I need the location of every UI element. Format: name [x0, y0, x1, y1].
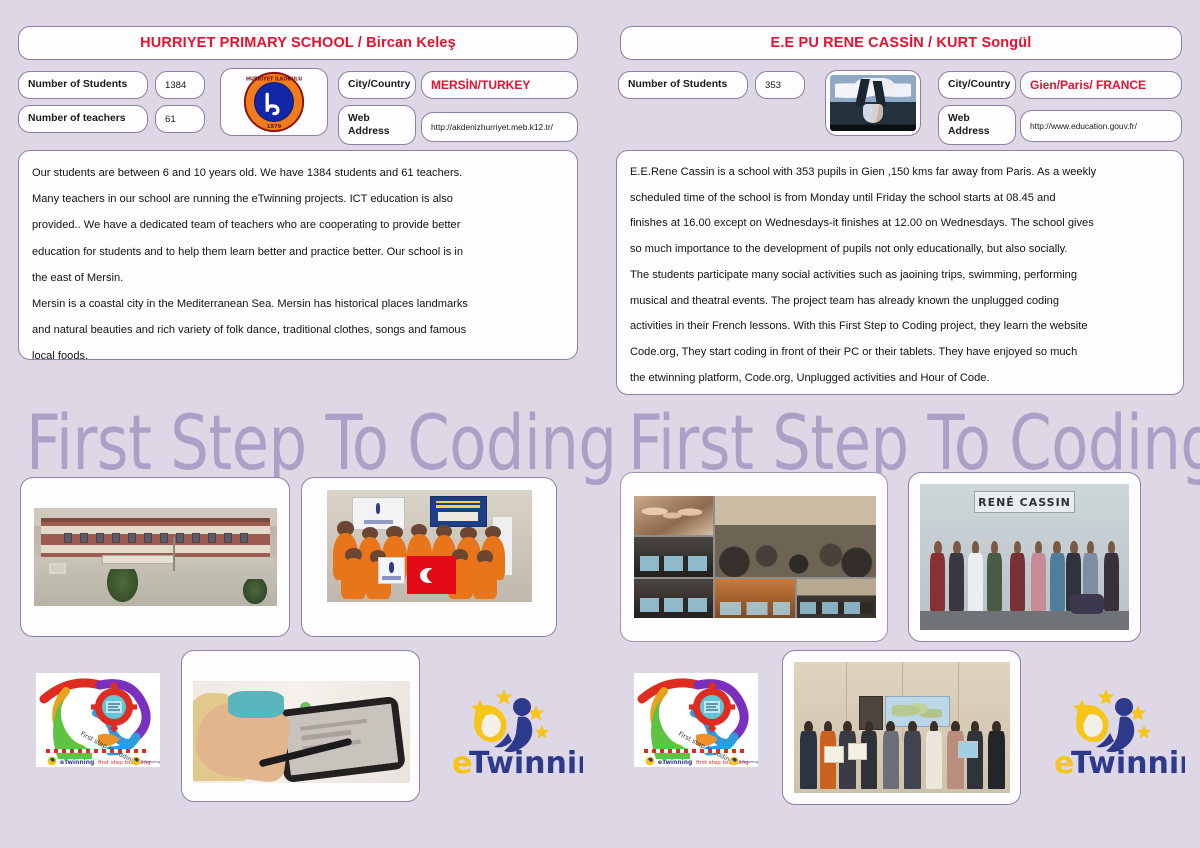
right-school-title: E.E PU RENE CASSİN / KURT Songül	[620, 26, 1182, 60]
right-etwinning-logo: e Twinning	[1040, 681, 1185, 781]
svg-text:eTwinning: eTwinning	[740, 760, 758, 764]
right-project-logo: First step to coding eTwinning first ste…	[634, 673, 758, 767]
right-desc-line: finishes at 16.00 except on Wednesdays-i…	[630, 211, 1170, 237]
hurriyet-ilkokulu-crest-icon: HURRIYET İLKOKULU 1979	[221, 69, 327, 135]
students-with-certificates-photo-frame	[782, 650, 1021, 805]
left-desc-line: and natural beauties and rich variety of…	[32, 317, 564, 343]
right-city-value: Gien/Paris/ FRANCE	[1020, 71, 1182, 99]
right-desc-line: the etwinning platform, Code.org, Unplug…	[630, 366, 1170, 392]
students-at-rene-cassin-sign-photo-frame: RENÉ CASSIN	[908, 472, 1141, 642]
school-building-photo-frame	[20, 477, 290, 637]
etwinning-logo-icon: e Twinning	[438, 681, 583, 781]
left-desc-line: local foods.	[32, 343, 564, 369]
poster-root: HURRIYET PRIMARY SCHOOL / Bircan Keleş N…	[0, 0, 1200, 848]
school-building-photo	[34, 508, 277, 606]
right-desc-line: so much importance to the development of…	[630, 237, 1170, 263]
left-desc-line: education for students and to help them …	[32, 239, 564, 265]
right-web-value[interactable]: http://www.education.gouv.fr/	[1020, 110, 1182, 142]
left-teachers-label: Number of teachers	[18, 105, 148, 133]
child-using-tablet-photo-frame	[181, 650, 420, 802]
right-desc-line: scheduled time of the school is from Mon…	[630, 186, 1170, 212]
left-teachers-value: 61	[155, 105, 205, 133]
left-desc-line: provided.. We have a dedicated team of t…	[32, 212, 564, 238]
students-with-turkish-flag-photo	[327, 490, 532, 602]
right-web-label: Web Address	[938, 105, 1016, 145]
coding-activities-collage-photo-frame	[620, 472, 888, 642]
etwinning-word: Twinning	[469, 746, 583, 781]
left-web-value[interactable]: http://akdenizhurriyet.meb.k12.tr/	[421, 112, 578, 142]
child-using-tablet-photo	[193, 681, 410, 783]
first-step-to-coding-logo-icon: First step to coding eTwinning first ste…	[634, 673, 758, 767]
left-desc-line: Mersin is a coastal city in the Mediterr…	[32, 291, 564, 317]
left-web-label: Web Address	[338, 105, 416, 145]
first-step-to-coding-logo-icon: First step to coding eTwinning first ste…	[36, 673, 160, 767]
students-with-certificates-photo	[794, 662, 1010, 793]
svg-text:HURRIYET İLKOKULU: HURRIYET İLKOKULU	[246, 76, 302, 83]
right-desc-line: Code.org, They start coding in front of …	[630, 340, 1170, 366]
coding-activities-collage-photo	[634, 496, 876, 618]
students-with-turkish-flag-photo-frame	[301, 477, 557, 637]
left-wordart-title: First Step To Coding	[26, 398, 616, 487]
left-desc-line: Our students are between 6 and 10 years …	[32, 160, 564, 186]
left-etwinning-logo: e Twinning	[438, 681, 583, 781]
school-flags-photo	[830, 75, 916, 131]
left-desc-line: the east of Mersin.	[32, 265, 564, 291]
right-desc-line: activities in their French lessons. With…	[630, 314, 1170, 340]
svg-text:eTwinning: eTwinning	[142, 760, 160, 764]
etwinning-word: Twinning	[1071, 746, 1185, 781]
rene-cassin-sign-text: RENÉ CASSIN	[974, 491, 1074, 513]
left-school-logo-frame: HURRIYET İLKOKULU 1979	[220, 68, 328, 136]
svg-text:eTwinning: eTwinning	[658, 759, 692, 766]
collage-cell	[715, 579, 794, 618]
right-desc-line: E.E.Rene Cassin is a school with 353 pup…	[630, 160, 1170, 186]
left-description-text: Our students are between 6 and 10 years …	[18, 150, 578, 360]
left-project-logo: First step to coding eTwinning first ste…	[36, 673, 160, 767]
left-city-label: City/Country	[338, 71, 416, 99]
svg-text:1979: 1979	[267, 124, 282, 130]
collage-cell	[797, 579, 876, 618]
svg-text:eTwinning: eTwinning	[60, 759, 94, 766]
right-students-label: Number of Students	[618, 71, 748, 99]
collage-cell	[634, 537, 713, 576]
collage-cell	[634, 579, 713, 618]
students-at-rene-cassin-sign-photo: RENÉ CASSIN	[920, 484, 1129, 630]
left-students-value: 1384	[155, 71, 205, 99]
left-school-title: HURRIYET PRIMARY SCHOOL / Bircan Keleş	[18, 26, 578, 60]
left-students-label: Number of Students	[18, 71, 148, 99]
collage-cell	[634, 496, 713, 535]
left-desc-line: Many teachers in our school are running …	[32, 186, 564, 212]
etwinning-logo-icon: e Twinning	[1040, 681, 1185, 781]
right-desc-line: musical and theatral events. The project…	[630, 289, 1170, 315]
collage-cell	[715, 496, 876, 577]
right-desc-line: The students participate many social act…	[630, 263, 1170, 289]
right-city-label: City/Country	[938, 71, 1016, 99]
right-school-logo-frame	[825, 70, 921, 136]
right-description-text: E.E.Rene Cassin is a school with 353 pup…	[616, 150, 1184, 395]
right-students-value: 353	[755, 71, 805, 99]
left-city-value: MERSİN/TURKEY	[421, 71, 578, 99]
